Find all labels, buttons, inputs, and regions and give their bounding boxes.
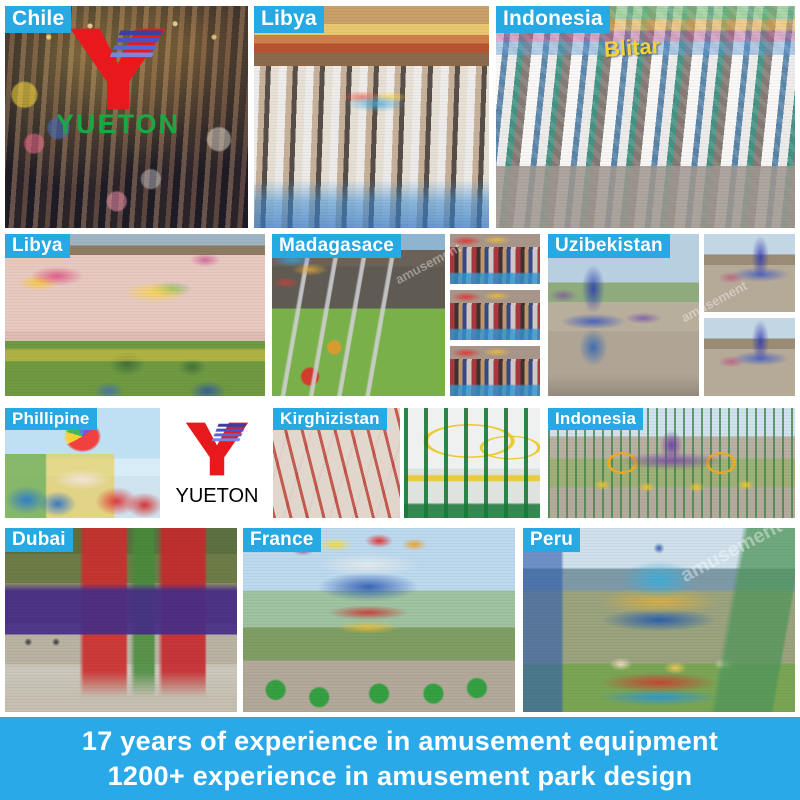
country-badge-philippine: Phillipine [5,408,97,430]
gallery-cell-libya-park[interactable]: Libya [5,234,265,396]
gallery-cell-dubai[interactable]: Dubai [5,528,237,712]
country-badge-libya-top: Libya [254,6,324,33]
country-badge-libya-park: Libya [5,234,70,258]
photo-madagascar-thumb-2 [450,290,540,340]
country-badge-indonesia-top: Indonesia [496,6,610,33]
photo-uzbekistan-thumb-2 [704,318,795,396]
photo-kirghizistan-coaster [404,408,540,518]
gallery-cell-chile[interactable]: Chile YUETON [5,6,248,228]
caption-line-2: 1200+ experience in amusement park desig… [108,759,693,793]
country-badge-chile: Chile [5,6,71,33]
photo-madagascar-main [272,234,445,396]
caption-line-1: 17 years of experience in amusement equi… [82,724,718,758]
photo-uzbekistan-main [548,234,699,396]
yueton-logo-panel: YUETON [164,408,270,518]
photo-libya-indoor [254,6,489,228]
yueton-y-icon [181,419,253,484]
gallery-cell-indonesia-top[interactable]: Blitar Indonesia [496,6,795,228]
country-badge-kirghizistan: Kirghizistan [273,408,387,430]
country-badge-dubai: Dubai [5,528,73,552]
gallery-cell-peru[interactable]: amusement Peru [523,528,795,712]
gallery-cell-france[interactable]: France [243,528,515,712]
photo-madagascar-thumb-3 [450,346,540,396]
gallery-cell-libya-top[interactable]: Libya [254,6,489,228]
country-badge-indonesia-octopus: Indonesia [548,408,643,430]
photo-madagascar-thumb-1 [450,234,540,284]
yueton-wordmark: YUETON [176,485,259,508]
backdrop-text-blitar: Blitar [603,33,661,63]
gallery-page: Chile YUETON Libya B [0,0,800,800]
caption-banner: 17 years of experience in amusement equi… [0,717,800,800]
country-badge-peru: Peru [523,528,580,552]
gallery-cell-madagascar[interactable]: amusement Madagasace [272,234,540,396]
ride-shape [5,454,160,518]
photo-libya-park [5,234,265,396]
country-badge-madagascar: Madagasace [272,234,401,258]
gallery-cell-kirghizistan[interactable]: Kirghizistan [273,408,540,518]
photo-chile [5,6,248,228]
photo-dubai-train [5,528,237,712]
country-badge-france: France [243,528,321,552]
gallery-cell-uzbekistan[interactable]: amusement Uzibekistan [548,234,795,396]
photo-france-swinger [243,528,515,712]
photo-uzbekistan-thumb-1 [704,234,795,312]
gallery-cell-philippine[interactable]: YUETON Phillipine [5,408,270,518]
country-badge-uzbekistan: Uzibekistan [548,234,670,258]
gallery-cell-indonesia-octopus[interactable]: Indonesia [548,408,795,518]
photo-peru-carousel [523,528,795,712]
